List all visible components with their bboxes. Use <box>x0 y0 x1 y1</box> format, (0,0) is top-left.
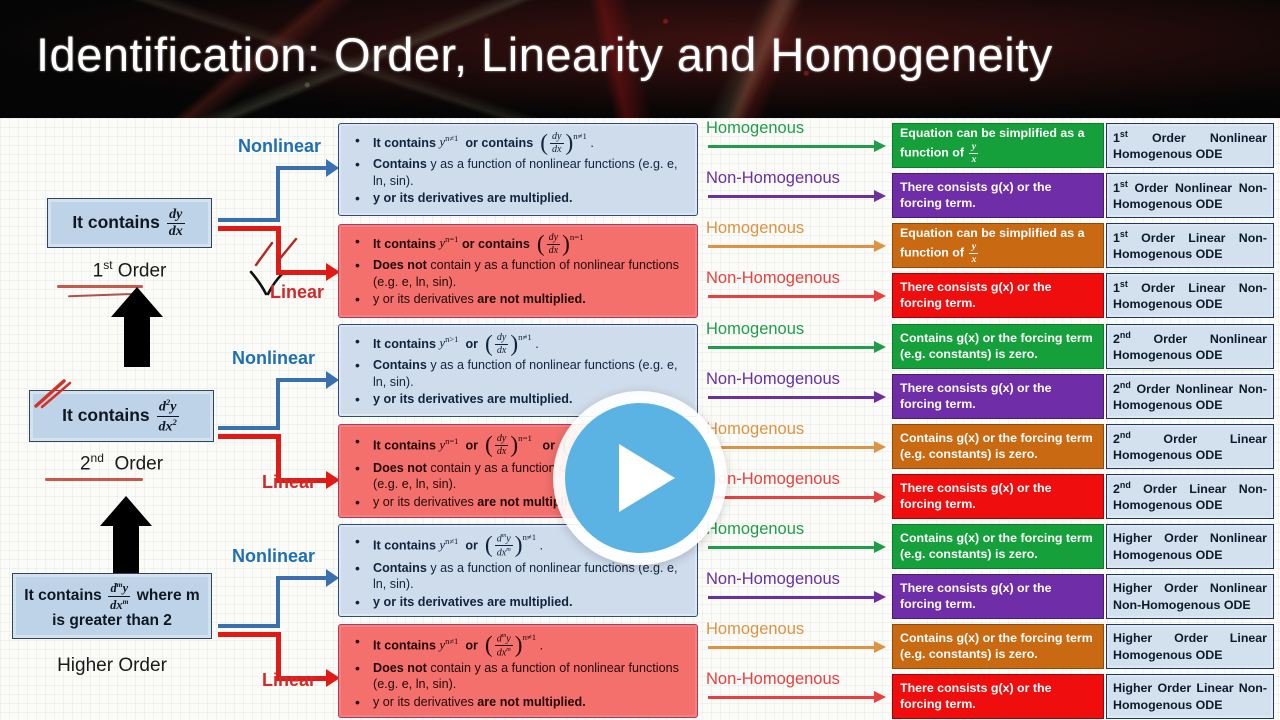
criteria-bullet: It contains yn>1 or (dydx)n≠1 . <box>349 333 689 356</box>
criteria-bullet: y or its derivatives are not multiplied. <box>349 291 689 307</box>
order-box-second-text: It contains d2ydx2 <box>62 398 181 434</box>
homogeneity-label: Non-Homogenous <box>706 370 840 389</box>
up-arrow-second-to-higher <box>100 496 152 574</box>
criteria-bullet: It contains yn=1 or contains (dydx)n=1 <box>349 233 689 256</box>
criteria-bullet: Contains y as a function of nonlinear fu… <box>349 156 689 189</box>
order-box-first-text: It contains dydx <box>72 208 186 239</box>
reason-box: There consists g(x) or the forcing term. <box>892 574 1104 619</box>
reason-box: Contains g(x) or the forcing term (e.g. … <box>892 324 1104 369</box>
homogeneity-arrow <box>708 195 886 198</box>
up-arrow-first-to-second <box>111 287 163 367</box>
order-label-second: 2nd Order <box>29 451 214 475</box>
arrow-head <box>874 140 886 152</box>
branch-label-linear-3: Linear <box>262 670 316 691</box>
reason-text: There consists g(x) or the forcing term. <box>900 280 1096 312</box>
criteria-box-1: It contains yn≠1 or contains (dydx)n≠1 .… <box>338 123 698 216</box>
slide-body: It contains dydx 1st Order It contains d… <box>0 118 1280 720</box>
reason-box: There consists g(x) or the forcing term. <box>892 273 1104 318</box>
arrow-shaft <box>708 496 876 499</box>
arrow-shaft <box>708 295 876 298</box>
reason-box: Equation can be simplified as a function… <box>892 223 1104 268</box>
arrow-head <box>874 591 886 603</box>
criteria-bullet: It contains yn≠1 or (dmydxm)n≠1 . <box>349 633 689 659</box>
homogeneity-label: Homogenous <box>706 520 804 539</box>
arrow-head <box>874 641 886 653</box>
homogeneity-arrow <box>708 696 886 699</box>
arrow-shaft <box>708 396 876 399</box>
reason-box: Contains g(x) or the forcing term (e.g. … <box>892 624 1104 669</box>
reason-text: There consists g(x) or the forcing term. <box>900 681 1096 713</box>
arrow-shaft <box>708 546 876 549</box>
arrow-head <box>874 190 886 202</box>
arrow-head <box>874 441 886 453</box>
arrow-head <box>874 240 886 252</box>
homogeneity-arrow <box>708 145 886 148</box>
reason-box: There consists g(x) or the forcing term. <box>892 173 1104 218</box>
result-box: 1st Order Linear Non-Homogenous ODE <box>1106 273 1274 318</box>
arrow-shaft <box>708 145 876 148</box>
reason-box: Contains g(x) or the forcing term (e.g. … <box>892 424 1104 469</box>
result-text: 1st Order Nonlinear Homogenous ODE <box>1113 129 1267 162</box>
order-box-second: It contains d2ydx2 <box>29 390 214 442</box>
branch-label-nonlinear-1: Nonlinear <box>238 136 321 157</box>
reason-text: Contains g(x) or the forcing term (e.g. … <box>900 531 1096 563</box>
arrow-shaft <box>708 245 876 248</box>
arrow-shaft <box>708 596 876 599</box>
result-box: 2nd Order Nonlinear Non-Homogenous ODE <box>1106 374 1274 419</box>
order-box-higher: It contains dmydxm where m is greater th… <box>12 573 212 639</box>
result-text: Higher Order Nonlinear Non-Homogenous OD… <box>1113 580 1267 612</box>
arrow-shaft <box>708 195 876 198</box>
play-triangle-icon <box>619 444 675 512</box>
arrow-shaft <box>708 446 876 449</box>
arrow-head <box>874 290 886 302</box>
result-text: 1st Order Nonlinear Non-Homogenous ODE <box>1113 179 1267 212</box>
arrow-head <box>874 691 886 703</box>
result-box: 2nd Order Nonlinear Homogenous ODE <box>1106 324 1274 369</box>
homogeneity-label: Homogenous <box>706 420 804 439</box>
result-text: 1st Order Linear Non-Homogenous ODE <box>1113 279 1267 312</box>
result-box: Higher Order Nonlinear Non-Homogenous OD… <box>1106 574 1274 619</box>
result-text: 1st Order Linear Non-Homogenous ODE <box>1113 229 1267 262</box>
reason-text: There consists g(x) or the forcing term. <box>900 180 1096 212</box>
arrow-shaft <box>708 696 876 699</box>
homogeneity-label: Non-Homogenous <box>706 670 840 689</box>
underline-second-order <box>45 478 143 481</box>
homogeneity-label: Homogenous <box>706 320 804 339</box>
result-text: 2nd Order Nonlinear Non-Homogenous ODE <box>1113 380 1267 413</box>
arrow-shaft <box>708 346 876 349</box>
homogeneity-arrow <box>708 596 886 599</box>
reason-text: There consists g(x) or the forcing term. <box>900 381 1096 413</box>
order-label-first: 1st Order <box>47 258 212 282</box>
homogeneity-arrow <box>708 496 886 499</box>
homogeneity-arrow <box>708 245 886 248</box>
result-box: Higher Order Linear Non-Homogenous ODE <box>1106 674 1274 719</box>
homogeneity-label: Non-Homogenous <box>706 269 840 288</box>
result-text: 2nd Order Linear Homogenous ODE <box>1113 430 1267 463</box>
title-banner: Identification: Order, Linearity and Hom… <box>0 0 1280 118</box>
reason-box: There consists g(x) or the forcing term. <box>892 374 1104 419</box>
reason-box: Contains g(x) or the forcing term (e.g. … <box>892 524 1104 569</box>
reason-box: Equation can be simplified as a function… <box>892 123 1104 168</box>
arrow-head <box>874 491 886 503</box>
reason-box: There consists g(x) or the forcing term. <box>892 674 1104 719</box>
homogeneity-label: Homogenous <box>706 219 804 238</box>
result-text: Higher Order Linear Non-Homogenous ODE <box>1113 680 1267 712</box>
order-label-higher: Higher Order <box>12 655 212 677</box>
homogeneity-label: Non-Homogenous <box>706 570 840 589</box>
branch-label-linear-1: Linear <box>270 282 324 303</box>
criteria-bullet: y or its derivatives are multiplied. <box>349 594 689 610</box>
reason-text: There consists g(x) or the forcing term. <box>900 481 1096 513</box>
arrow-head <box>874 341 886 353</box>
page-title: Identification: Order, Linearity and Hom… <box>36 27 1053 82</box>
criteria-bullet: Does not contain y as a function of nonl… <box>349 660 689 693</box>
reason-box: There consists g(x) or the forcing term. <box>892 474 1104 519</box>
result-box: 1st Order Linear Non-Homogenous ODE <box>1106 223 1274 268</box>
arrow-head <box>874 541 886 553</box>
branch-label-nonlinear-3: Nonlinear <box>232 546 315 567</box>
branch-label-linear-2: Linear <box>262 472 316 493</box>
criteria-bullet: y or its derivatives are not multiplied. <box>349 694 689 710</box>
criteria-bullet: Does not contain y as a function of nonl… <box>349 257 689 290</box>
order-box-higher-text: It contains dmydxm where m is greater th… <box>21 581 203 630</box>
homogeneity-label: Homogenous <box>706 119 804 138</box>
reason-text: There consists g(x) or the forcing term. <box>900 581 1096 613</box>
arrow-head <box>874 391 886 403</box>
play-button-disc <box>565 403 715 553</box>
reason-text: Contains g(x) or the forcing term (e.g. … <box>900 331 1096 363</box>
result-text: 2nd Order Linear Non-Homogenous ODE <box>1113 480 1267 513</box>
homogeneity-label: Non-Homogenous <box>706 169 840 188</box>
homogeneity-label: Homogenous <box>706 620 804 639</box>
criteria-bullet: It contains yn≠1 or contains (dydx)n≠1 . <box>349 132 689 155</box>
reason-text: Contains g(x) or the forcing term (e.g. … <box>900 631 1096 663</box>
reason-text: Contains g(x) or the forcing term (e.g. … <box>900 431 1096 463</box>
criteria-box-2: It contains yn=1 or contains (dydx)n=1 D… <box>338 224 698 318</box>
result-box: 2nd Order Linear Homogenous ODE <box>1106 424 1274 469</box>
result-text: 2nd Order Nonlinear Homogenous ODE <box>1113 330 1267 363</box>
result-text: Higher Order Linear Homogenous ODE <box>1113 630 1267 662</box>
result-box: Higher Order Linear Homogenous ODE <box>1106 624 1274 669</box>
result-box: 1st Order Nonlinear Homogenous ODE <box>1106 123 1274 168</box>
play-button[interactable] <box>553 391 727 565</box>
arrow-shaft <box>708 646 876 649</box>
criteria-bullet: Contains y as a function of nonlinear fu… <box>349 357 689 390</box>
homogeneity-arrow <box>708 646 886 649</box>
result-box: 2nd Order Linear Non-Homogenous ODE <box>1106 474 1274 519</box>
homogeneity-arrow <box>708 396 886 399</box>
result-box: 1st Order Nonlinear Non-Homogenous ODE <box>1106 173 1274 218</box>
reason-text: Equation can be simplified as a function… <box>900 226 1096 265</box>
homogeneity-arrow <box>708 546 886 549</box>
homogeneity-arrow <box>708 295 886 298</box>
criteria-bullet: y or its derivatives are multiplied. <box>349 190 689 206</box>
reason-text: Equation can be simplified as a function… <box>900 126 1096 165</box>
result-text: Higher Order Nonlinear Homogenous ODE <box>1113 530 1267 562</box>
branch-label-nonlinear-2: Nonlinear <box>232 348 315 369</box>
homogeneity-arrow <box>708 346 886 349</box>
criteria-box-6: It contains yn≠1 or (dmydxm)n≠1 . Does n… <box>338 624 698 718</box>
homogeneity-arrow <box>708 446 886 449</box>
result-box: Higher Order Nonlinear Homogenous ODE <box>1106 524 1274 569</box>
order-box-first: It contains dydx <box>47 198 212 248</box>
